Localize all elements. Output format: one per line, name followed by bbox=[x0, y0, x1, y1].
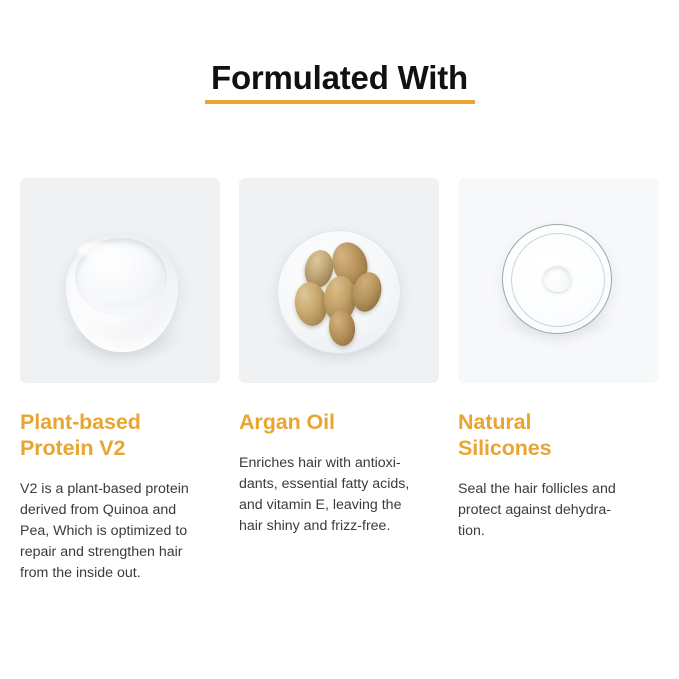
ingredient-heading: Natural Silicones bbox=[458, 409, 658, 461]
ingredient-description: V2 is a plant-based protein derived from… bbox=[20, 479, 220, 584]
clear-gel-jar-image bbox=[20, 178, 220, 383]
ingredient-heading: Plant-based Protein V2 bbox=[20, 409, 220, 461]
page-title: Formulated With bbox=[211, 58, 468, 98]
silicone-droplet-icon bbox=[543, 266, 571, 292]
ingredient-column-natural-silicones: Natural Silicones Seal the hair follicle… bbox=[458, 178, 658, 584]
ingredient-heading: Argan Oil bbox=[239, 409, 439, 435]
petri-dish-droplet-image bbox=[458, 178, 658, 383]
ingredient-columns: Plant-based Protein V2 V2 is a plant-bas… bbox=[20, 178, 659, 584]
ingredient-column-argan-oil: Argan Oil Enriches hair with antioxi- da… bbox=[239, 178, 439, 584]
formulated-with-infographic: Formulated With Plant-based Protein V2 V… bbox=[0, 0, 679, 679]
ingredient-description: Enriches hair with antioxi- dants, essen… bbox=[239, 453, 439, 537]
ingredient-column-plant-based-protein-v2: Plant-based Protein V2 V2 is a plant-bas… bbox=[20, 178, 220, 584]
gel-highlight-icon bbox=[78, 242, 118, 258]
ingredient-description: Seal the hair follicles and protect agai… bbox=[458, 479, 658, 542]
argan-nuts-in-dish-image bbox=[239, 178, 439, 383]
title-underline-rule bbox=[205, 100, 475, 104]
page-title-block: Formulated With bbox=[0, 58, 679, 104]
